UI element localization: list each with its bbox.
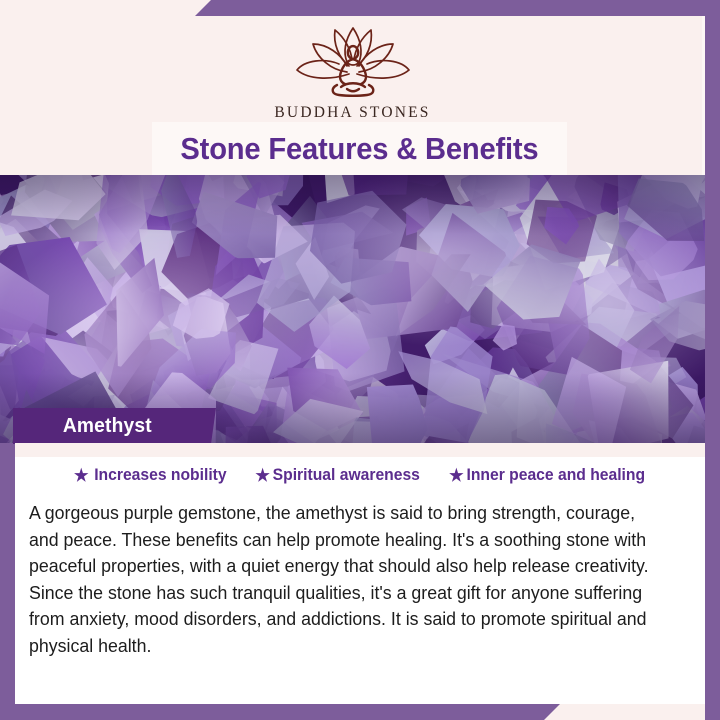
content-panel: ★ Increases nobility ★ Spiritual awarene… [15,443,705,704]
benefits-row: ★ Increases nobility ★ Spiritual awarene… [15,466,705,485]
stone-description: A gorgeous purple gemstone, the amethyst… [29,500,661,659]
star-icon: ★ [255,467,269,484]
title-banner: Stone Features & Benefits [152,122,567,176]
infographic-page: BUDDHA STONES Stone Features & Benefits … [0,0,720,720]
amethyst-hero-image [0,175,705,443]
bottom-purple-band [0,704,560,720]
benefit-label: Increases nobility [94,466,226,485]
lotus-meditation-icon [279,22,427,100]
top-purple-band [195,0,720,16]
benefit-item-1: ★ Spiritual awareness [255,466,420,485]
star-icon: ★ [74,467,88,484]
benefit-label: Spiritual awareness [272,466,419,485]
benefit-item-0: ★ Increases nobility [74,466,227,485]
crystal-facets [0,175,705,443]
star-icon: ★ [449,467,463,484]
brand-wordmark: BUDDHA STONES [274,104,430,122]
benefit-label: Inner peace and healing [466,466,645,485]
benefit-item-2: ★ Inner peace and healing [449,466,645,485]
right-purple-strip [705,0,720,720]
stone-name-tag: Amethyst [13,408,216,444]
stone-name: Amethyst [63,415,152,438]
brand-logo: BUDDHA STONES [0,22,705,122]
page-title: Stone Features & Benefits [180,131,538,167]
left-purple-strip [0,443,15,720]
